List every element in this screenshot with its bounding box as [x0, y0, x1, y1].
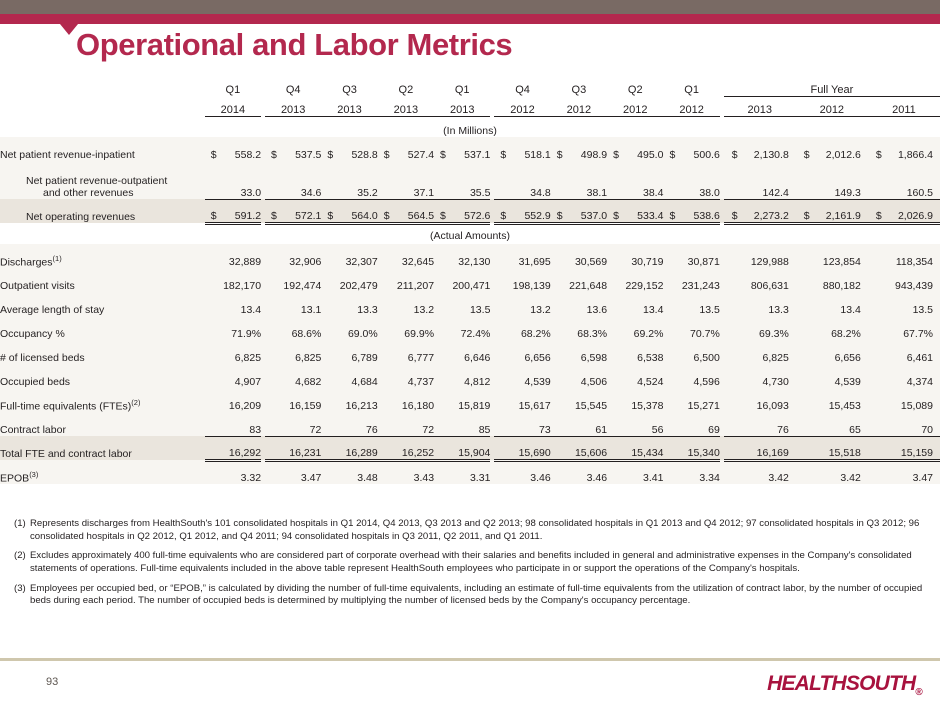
- quarter-value: 6,656: [494, 340, 550, 364]
- quarter-value: 4,596: [663, 364, 719, 388]
- full-year-value: 806,631: [724, 268, 796, 292]
- quarter-value: 229,152: [607, 268, 663, 292]
- table-row: # of licensed beds6,825 6,8256,7896,7776…: [0, 340, 940, 364]
- quarter-value: 69.2%: [607, 316, 663, 340]
- footnote-marker: (2): [0, 550, 30, 575]
- quarter-value: $558.2: [205, 137, 261, 161]
- header-row-quarters: Q1 Q4Q3Q2Q1 Q4Q3Q2Q1 Full Year: [0, 76, 940, 96]
- quarter-value: 16,231: [265, 436, 321, 460]
- footnotes-block: (1)Represents discharges from HealthSout…: [0, 518, 940, 615]
- quarter-value: 13.4: [205, 292, 261, 316]
- full-year-value: 70: [868, 412, 940, 436]
- quarter-value: 6,789: [321, 340, 377, 364]
- quarter-value: 85: [434, 412, 490, 436]
- full-year-value: 16,093: [724, 388, 796, 412]
- footnote-text: Represents discharges from HealthSouth's…: [30, 518, 940, 543]
- quarter-value: 31,695: [494, 244, 550, 268]
- quarter-value: 73: [494, 412, 550, 436]
- quarter-value: $564.5: [378, 199, 434, 223]
- quarter-value: 13.3: [321, 292, 377, 316]
- quarter-value: $537.1: [434, 137, 490, 161]
- full-year-value: 4,374: [868, 364, 940, 388]
- row-label: Average length of stay: [0, 292, 205, 316]
- year-header: 2012: [494, 96, 550, 116]
- quarter-header: Q3: [321, 76, 377, 96]
- quarter-header: Q1: [434, 76, 490, 96]
- quarter-value: 3.46: [551, 460, 607, 484]
- quarter-value: $537.5: [265, 137, 321, 161]
- quarter-value: $564.0: [321, 199, 377, 223]
- full-year-value: 15,453: [796, 388, 868, 412]
- full-year-value: 68.2%: [796, 316, 868, 340]
- header-row-years: 2014 2013201320132013 2012201220122012 2…: [0, 96, 940, 116]
- full-year-value: 67.7%: [868, 316, 940, 340]
- quarter-value: 13.5: [663, 292, 719, 316]
- row-label: Net patient revenue-outpatientand other …: [0, 161, 205, 199]
- quarter-value: 76: [321, 412, 377, 436]
- quarter-value: 15,545: [551, 388, 607, 412]
- full-year-value: 3.42: [724, 460, 796, 484]
- quarter-value: 6,598: [551, 340, 607, 364]
- top-taupe-bar: [0, 0, 940, 14]
- row-label: Occupied beds: [0, 364, 205, 388]
- row-label: # of licensed beds: [0, 340, 205, 364]
- full-year-value: 15,089: [868, 388, 940, 412]
- quarter-value: 3.47: [265, 460, 321, 484]
- quarter-value: 16,159: [265, 388, 321, 412]
- full-year-value: 15,518: [796, 436, 868, 460]
- footnote-text: Employees per occupied bed, or “EPOB,” i…: [30, 583, 940, 608]
- quarter-value: 16,252: [378, 436, 434, 460]
- quarter-header: Q4: [265, 76, 321, 96]
- quarter-value: 3.43: [378, 460, 434, 484]
- full-year-value: 123,854: [796, 244, 868, 268]
- full-year-value: 13.5: [868, 292, 940, 316]
- quarter-value: 231,243: [663, 268, 719, 292]
- full-year-value: $2,130.8: [724, 137, 796, 161]
- row-label: Net patient revenue-inpatient: [0, 137, 205, 161]
- quarter-value: $538.6: [663, 199, 719, 223]
- quarter-value: 6,825: [265, 340, 321, 364]
- row-label-line1: Net patient revenue-outpatient: [26, 175, 205, 187]
- quarter-value: 3.46: [494, 460, 550, 484]
- full-year-value: 129,988: [724, 244, 796, 268]
- metrics-table: Q1 Q4Q3Q2Q1 Q4Q3Q2Q1 Full Year2014 20132…: [0, 76, 940, 484]
- year-header: 2013: [265, 96, 321, 116]
- quarter-value: 182,170: [205, 268, 261, 292]
- full-year-value: 118,354: [868, 244, 940, 268]
- table-row: Occupied beds4,907 4,6824,6844,7374,812 …: [0, 364, 940, 388]
- quarter-value: $572.6: [434, 199, 490, 223]
- quarter-value: 33.0: [205, 161, 261, 199]
- footnote-ref: (2): [131, 398, 140, 407]
- quarter-value: 30,871: [663, 244, 719, 268]
- table-row: Total FTE and contract labor16,292 16,23…: [0, 436, 940, 460]
- quarter-value: 6,500: [663, 340, 719, 364]
- quarter-value: 13.2: [494, 292, 550, 316]
- slide-canvas: Operational and Labor Metrics Q1 Q4Q3Q2Q…: [0, 0, 940, 705]
- quarter-value: 38.0: [663, 161, 719, 199]
- quarter-value: 72: [265, 412, 321, 436]
- full-year-value: 4,539: [796, 364, 868, 388]
- full-year-value: 65: [796, 412, 868, 436]
- quarter-value: 68.3%: [551, 316, 607, 340]
- quarter-value: 15,690: [494, 436, 550, 460]
- footnote-item: (2)Excludes approximately 400 full-time …: [0, 550, 940, 575]
- quarter-value: 13.6: [551, 292, 607, 316]
- row-label: Contract labor: [0, 412, 205, 436]
- quarter-value: 211,207: [378, 268, 434, 292]
- quarter-value: 32,130: [434, 244, 490, 268]
- table-row: Occupancy %71.9% 68.6%69.0%69.9%72.4% 68…: [0, 316, 940, 340]
- full-year-value: $2,161.9: [796, 199, 868, 223]
- table-row: Full-time equivalents (FTEs)(2)16,209 16…: [0, 388, 940, 412]
- quarter-value: 4,737: [378, 364, 434, 388]
- page-title: Operational and Labor Metrics: [76, 27, 512, 63]
- row-label: Full-time equivalents (FTEs)(2): [0, 388, 205, 412]
- quarter-value: $518.1: [494, 137, 550, 161]
- full-year-value: 880,182: [796, 268, 868, 292]
- quarter-value: $533.4: [607, 199, 663, 223]
- quarter-value: 6,825: [205, 340, 261, 364]
- full-year-value: 6,825: [724, 340, 796, 364]
- quarter-header: Q1: [205, 76, 261, 96]
- quarter-value: 72: [378, 412, 434, 436]
- quarter-value: 198,139: [494, 268, 550, 292]
- quarter-header: Q1: [663, 76, 719, 96]
- quarter-value: 192,474: [265, 268, 321, 292]
- full-year-value: 6,461: [868, 340, 940, 364]
- quarter-value: 4,506: [551, 364, 607, 388]
- quarter-value: 13.2: [378, 292, 434, 316]
- section-label-actual: (Actual Amounts): [0, 223, 940, 244]
- section-header-actual: (Actual Amounts): [0, 223, 940, 244]
- full-year-value: $2,273.2: [724, 199, 796, 223]
- full-year-header: 2013: [724, 96, 796, 116]
- quarter-value: 3.31: [434, 460, 490, 484]
- full-year-value: $2,012.6: [796, 137, 868, 161]
- quarter-value: 15,904: [434, 436, 490, 460]
- quarter-value: 30,569: [551, 244, 607, 268]
- full-year-value: 3.47: [868, 460, 940, 484]
- row-label: Outpatient visits: [0, 268, 205, 292]
- quarter-value: 32,906: [265, 244, 321, 268]
- quarter-value: 72.4%: [434, 316, 490, 340]
- quarter-value: 34.6: [265, 161, 321, 199]
- quarter-value: 15,606: [551, 436, 607, 460]
- quarter-value: 4,524: [607, 364, 663, 388]
- footnote-marker: (3): [0, 583, 30, 608]
- table-row: Net patient revenue-outpatientand other …: [0, 161, 940, 199]
- row-label-line2: and other revenues: [26, 187, 205, 199]
- quarter-value: 13.4: [607, 292, 663, 316]
- footnote-item: (1)Represents discharges from HealthSout…: [0, 518, 940, 543]
- quarter-value: 6,777: [378, 340, 434, 364]
- footnote-ref: (3): [29, 470, 38, 479]
- year-header: 2013: [321, 96, 377, 116]
- quarter-value: 6,538: [607, 340, 663, 364]
- quarter-value: $528.8: [321, 137, 377, 161]
- quarter-header: Q3: [551, 76, 607, 96]
- table-row: Average length of stay13.4 13.113.313.21…: [0, 292, 940, 316]
- quarter-value: 13.5: [434, 292, 490, 316]
- full-year-value: 142.4: [724, 161, 796, 199]
- footer-divider: [0, 658, 940, 661]
- registered-mark: ®: [915, 687, 922, 698]
- quarter-value: 69: [663, 412, 719, 436]
- top-crimson-bar: [0, 14, 940, 24]
- row-label: Net operating revenues: [0, 199, 205, 223]
- full-year-value: 6,656: [796, 340, 868, 364]
- quarter-value: 68.2%: [494, 316, 550, 340]
- full-year-value: 3.42: [796, 460, 868, 484]
- quarter-value: 3.41: [607, 460, 663, 484]
- quarter-value: 4,682: [265, 364, 321, 388]
- quarter-value: $500.6: [663, 137, 719, 161]
- full-year-group-header: Full Year: [724, 76, 940, 96]
- table-row: Net patient revenue-inpatient$558.2 $537…: [0, 137, 940, 161]
- quarter-value: 221,648: [551, 268, 607, 292]
- full-year-value: 943,439: [868, 268, 940, 292]
- quarter-value: $591.2: [205, 199, 261, 223]
- table-row: Contract labor83 72767285 73615669 76657…: [0, 412, 940, 436]
- table-row: EPOB(3)3.32 3.473.483.433.31 3.463.463.4…: [0, 460, 940, 484]
- full-year-header: 2011: [868, 96, 940, 116]
- quarter-value: 83: [205, 412, 261, 436]
- quarter-value: 16,209: [205, 388, 261, 412]
- quarter-header: Q2: [378, 76, 434, 96]
- quarter-value: 15,617: [494, 388, 550, 412]
- footnote-ref: (1): [53, 254, 62, 263]
- quarter-value: 3.32: [205, 460, 261, 484]
- footnote-marker: (1): [0, 518, 30, 543]
- healthsouth-logo: HEALTHSOUTH®: [767, 672, 922, 698]
- year-header: 2012: [607, 96, 663, 116]
- full-year-value: 13.3: [724, 292, 796, 316]
- quarter-value: 56: [607, 412, 663, 436]
- quarter-value: 16,289: [321, 436, 377, 460]
- footnote-item: (3)Employees per occupied bed, or “EPOB,…: [0, 583, 940, 608]
- quarter-header: Q4: [494, 76, 550, 96]
- quarter-value: 15,340: [663, 436, 719, 460]
- quarter-value: 16,213: [321, 388, 377, 412]
- full-year-value: 13.4: [796, 292, 868, 316]
- year-header: 2012: [663, 96, 719, 116]
- quarter-value: 6,646: [434, 340, 490, 364]
- quarter-value: $537.0: [551, 199, 607, 223]
- row-label: Occupancy %: [0, 316, 205, 340]
- row-label-spacer: [0, 96, 205, 116]
- quarter-value: 32,307: [321, 244, 377, 268]
- quarter-value: $527.4: [378, 137, 434, 161]
- quarter-value: 16,292: [205, 436, 261, 460]
- full-year-value: $2,026.9: [868, 199, 940, 223]
- quarter-value: 68.6%: [265, 316, 321, 340]
- quarter-value: $495.0: [607, 137, 663, 161]
- quarter-value: 32,645: [378, 244, 434, 268]
- quarter-value: 15,434: [607, 436, 663, 460]
- quarter-value: 69.9%: [378, 316, 434, 340]
- year-header: 2012: [551, 96, 607, 116]
- full-year-value: 15,159: [868, 436, 940, 460]
- row-label-spacer: [0, 76, 205, 96]
- row-label: EPOB(3): [0, 460, 205, 484]
- row-label: Total FTE and contract labor: [0, 436, 205, 460]
- section-label-millions: (In Millions): [0, 116, 940, 137]
- footnote-text: Excludes approximately 400 full-time equ…: [30, 550, 940, 575]
- logo-wordmark: HEALTHSOUTH: [767, 672, 915, 695]
- table-row: Outpatient visits182,170 192,474202,4792…: [0, 268, 940, 292]
- quarter-value: 69.0%: [321, 316, 377, 340]
- table-row: Discharges(1)32,889 32,90632,30732,64532…: [0, 244, 940, 268]
- quarter-value: 32,889: [205, 244, 261, 268]
- quarter-value: 37.1: [378, 161, 434, 199]
- quarter-value: $552.9: [494, 199, 550, 223]
- year-header: 2014: [205, 96, 261, 116]
- full-year-value: 4,730: [724, 364, 796, 388]
- quarter-value: 34.8: [494, 161, 550, 199]
- quarter-value: 3.34: [663, 460, 719, 484]
- quarter-value: 38.1: [551, 161, 607, 199]
- full-year-value: 160.5: [868, 161, 940, 199]
- quarter-value: 13.1: [265, 292, 321, 316]
- full-year-value: 76: [724, 412, 796, 436]
- row-label: Discharges(1): [0, 244, 205, 268]
- year-header: 2013: [434, 96, 490, 116]
- quarter-value: 4,684: [321, 364, 377, 388]
- quarter-value: 30,719: [607, 244, 663, 268]
- quarter-value: 35.2: [321, 161, 377, 199]
- quarter-value: 15,819: [434, 388, 490, 412]
- year-header: 2013: [378, 96, 434, 116]
- full-year-value: 16,169: [724, 436, 796, 460]
- quarter-value: 35.5: [434, 161, 490, 199]
- full-year-value: $1,866.4: [868, 137, 940, 161]
- quarter-value: 38.4: [607, 161, 663, 199]
- quarter-value: 4,907: [205, 364, 261, 388]
- quarter-value: 200,471: [434, 268, 490, 292]
- quarter-value: 202,479: [321, 268, 377, 292]
- page-number: 93: [46, 676, 58, 688]
- quarter-value: 3.48: [321, 460, 377, 484]
- quarter-value: 15,378: [607, 388, 663, 412]
- quarter-header: Q2: [607, 76, 663, 96]
- quarter-value: 61: [551, 412, 607, 436]
- section-header-millions: (In Millions): [0, 116, 940, 137]
- table-row: Net operating revenues$591.2 $572.1$564.…: [0, 199, 940, 223]
- quarter-value: $498.9: [551, 137, 607, 161]
- quarter-value: $572.1: [265, 199, 321, 223]
- full-year-value: 149.3: [796, 161, 868, 199]
- full-year-value: 69.3%: [724, 316, 796, 340]
- quarter-value: 70.7%: [663, 316, 719, 340]
- quarter-value: 4,812: [434, 364, 490, 388]
- full-year-header: 2012: [796, 96, 868, 116]
- quarter-value: 16,180: [378, 388, 434, 412]
- quarter-value: 71.9%: [205, 316, 261, 340]
- quarter-value: 15,271: [663, 388, 719, 412]
- quarter-value: 4,539: [494, 364, 550, 388]
